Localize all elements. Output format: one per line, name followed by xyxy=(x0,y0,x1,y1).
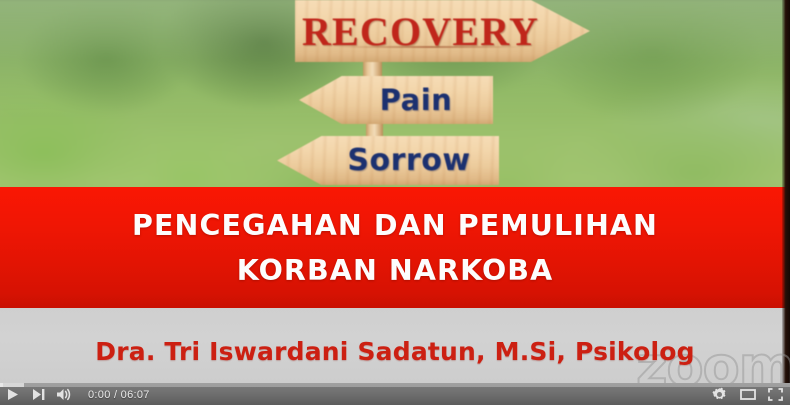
player-controls-left: 0:00 / 06:07 xyxy=(4,387,150,402)
play-icon[interactable] xyxy=(4,387,21,402)
title-line-2: KORBAN NARKOBA xyxy=(237,254,554,287)
sign-recovery-label: RECOVERY xyxy=(302,8,539,55)
player-controls-right xyxy=(711,387,784,402)
gear-icon[interactable] xyxy=(711,387,728,402)
time-display: 0:00 / 06:07 xyxy=(88,389,150,401)
sign-pain-label: Pain xyxy=(380,83,453,117)
sign-pain: Pain xyxy=(299,76,493,124)
player-control-bar: 0:00 / 06:07 xyxy=(0,383,790,405)
sign-sorrow-label: Sorrow xyxy=(347,143,470,178)
video-player: RECOVERY Pain Sorrow PENCEGAHAN DAN PEMU… xyxy=(0,0,790,405)
fullscreen-icon[interactable] xyxy=(767,387,784,402)
presenter-strip: zoom Dra. Tri Iswardani Sadatun, M.Si, P… xyxy=(0,308,790,383)
volume-icon[interactable] xyxy=(56,387,73,402)
next-video-icon[interactable] xyxy=(30,387,47,402)
video-frame[interactable]: RECOVERY Pain Sorrow PENCEGAHAN DAN PEMU… xyxy=(0,0,790,405)
frame-right-edge xyxy=(782,0,790,383)
presenter-name: Dra. Tri Iswardani Sadatun, M.Si, Psikol… xyxy=(95,337,694,366)
title-line-1: PENCEGAHAN DAN PEMULIHAN xyxy=(132,209,658,242)
progress-bar-played xyxy=(0,383,3,387)
sign-recovery: RECOVERY xyxy=(295,0,590,62)
sign-sorrow: Sorrow xyxy=(277,136,499,185)
title-banner: PENCEGAHAN DAN PEMULIHAN KORBAN NARKOBA xyxy=(0,187,790,308)
theater-mode-icon[interactable] xyxy=(739,387,756,402)
